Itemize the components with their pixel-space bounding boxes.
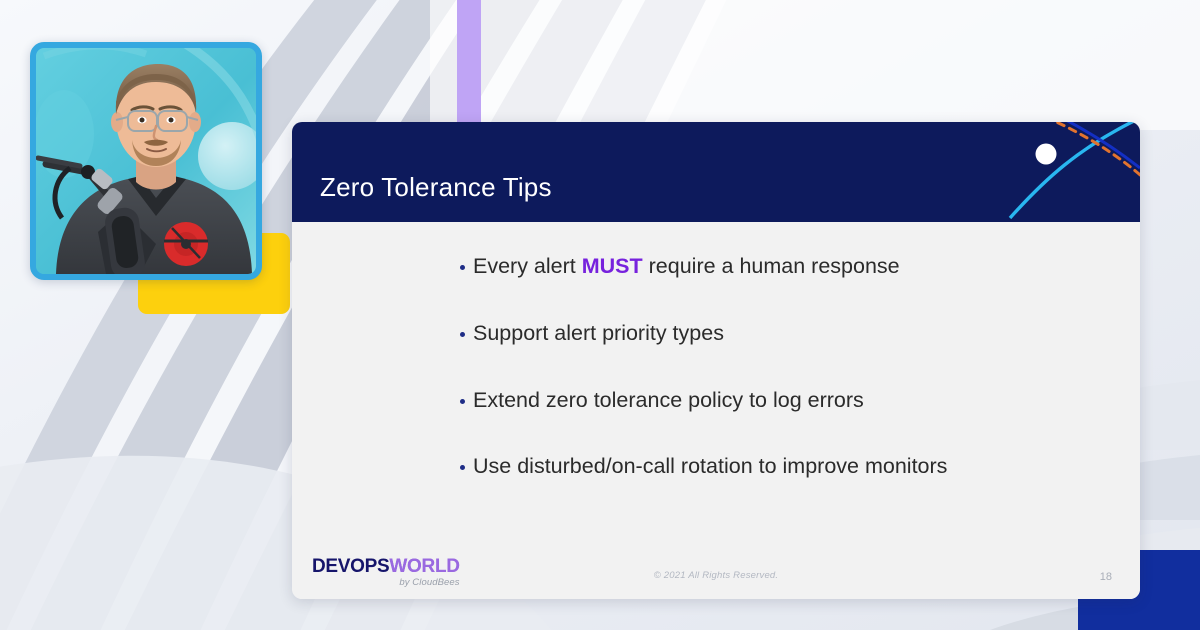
slide-footer: DEVOPSWORLD by CloudBees © 2021 All Righ… [292, 541, 1140, 599]
bullet-item-1: Every alert MUST require a human respons… [460, 254, 1120, 280]
lavender-accent-bar [457, 0, 481, 126]
speaker-webcam-thumbnail[interactable] [30, 42, 262, 280]
bullet-text-post: require a human response [643, 254, 900, 278]
page-number: 18 [1100, 571, 1112, 583]
slide-header: Zero Tolerance Tips [292, 122, 1140, 222]
bullet-text-pre: Support alert priority types [473, 321, 724, 345]
bullet-list: Every alert MUST require a human respons… [460, 254, 1120, 480]
bullet-item-4: Use disturbed/on-call rotation to improv… [460, 454, 1120, 480]
bullet-item-2: Support alert priority types [460, 321, 1120, 347]
slide-body: Every alert MUST require a human respons… [292, 222, 1140, 599]
header-orbit-decoration [1000, 122, 1140, 222]
bullet-emphasis: MUST [582, 254, 643, 278]
bullet-text-pre: Use disturbed/on-call rotation to improv… [473, 454, 947, 478]
presentation-stage: Zero Tolerance Tips Every alert MUST req… [0, 0, 1200, 630]
bullet-text-pre: Extend zero tolerance policy to log erro… [473, 388, 864, 412]
copyright-text: © 2021 All Rights Reserved. [292, 570, 1140, 581]
bullet-text-pre: Every alert [473, 254, 582, 278]
slide-card: Zero Tolerance Tips Every alert MUST req… [292, 122, 1140, 599]
bullet-item-3: Extend zero tolerance policy to log erro… [460, 388, 1120, 414]
slide-title: Zero Tolerance Tips [320, 172, 552, 203]
